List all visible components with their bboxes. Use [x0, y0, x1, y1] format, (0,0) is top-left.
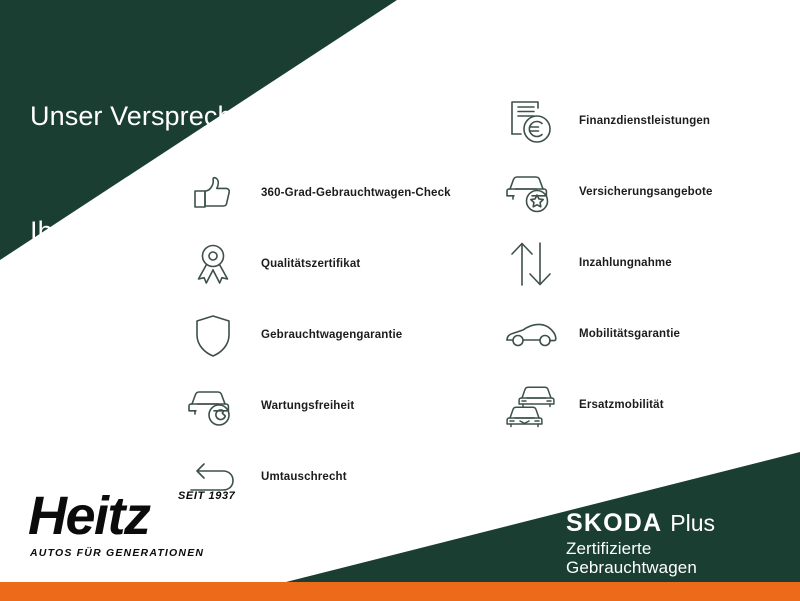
feature-item-insurance-offers: Versicherungsangebote [503, 159, 793, 227]
feature-list-left: 360-Grad-Gebrauchtwagen-Check Qualitätsz… [185, 160, 485, 515]
feature-label: Ersatzmobilität [579, 399, 664, 413]
feature-item-warranty: Gebrauchtwagengarantie [185, 302, 485, 370]
feature-label: Gebrauchtwagengarantie [261, 329, 402, 343]
feature-label: Qualitätszertifikat [261, 258, 360, 272]
two-cars-icon [503, 378, 559, 434]
feature-item-financial-services: Finanzdienstleistungen [503, 88, 793, 156]
feature-label: Mobilitätsgarantie [579, 328, 680, 342]
award-rosette-icon [185, 237, 241, 293]
up-down-arrows-icon [503, 236, 559, 292]
feature-item-360-check: 360-Grad-Gebrauchtwagen-Check [185, 160, 485, 228]
feature-item-mobility-guarantee: Mobilitätsgarantie [503, 301, 793, 369]
feature-item-maintenance-free: Wartungsfreiheit [185, 373, 485, 441]
brand-logo: SKODA Plus Zertifizierte Gebrauchtwagen [566, 511, 786, 577]
document-euro-icon [503, 94, 559, 150]
brand-logo-subtitle: Zertifizierte Gebrauchtwagen [566, 540, 786, 577]
feature-item-trade-in: Inzahlungnahme [503, 230, 793, 298]
feature-label: Inzahlungnahme [579, 257, 672, 271]
feature-label: Umtauschrecht [261, 471, 347, 485]
thumbs-up-icon [185, 166, 241, 222]
dealer-logo-since: SEIT 1937 [178, 490, 235, 502]
brand-logo-wordmark: SKODA [566, 511, 662, 536]
feature-label: 360-Grad-Gebrauchtwagen-Check [261, 187, 451, 201]
car-side-icon [503, 307, 559, 363]
car-star-icon [503, 165, 559, 221]
feature-list-right: Finanzdienstleistungen Versicherungsange… [503, 88, 793, 443]
dealer-logo-tagline: AUTOS FÜR GENERATIONEN [30, 547, 204, 559]
feature-item-quality-certificate: Qualitätszertifikat [185, 231, 485, 299]
feature-label: Finanzdienstleistungen [579, 115, 710, 129]
headline-line-1: Unser Versprechen. [30, 97, 270, 135]
dealer-logo: Heitz SEIT 1937 AUTOS FÜR GENERATIONEN [28, 487, 243, 562]
shield-icon [185, 308, 241, 364]
brand-logo-suffix: Plus [670, 512, 715, 535]
promo-banner: Unser Versprechen. Ihr Plus. 360-Grad-Ge… [0, 0, 800, 601]
feature-label: Versicherungsangebote [579, 186, 713, 200]
feature-item-replacement-mobility: Ersatzmobilität [503, 372, 793, 440]
brand-logo-row: SKODA Plus [566, 511, 786, 536]
dealer-logo-name: Heitz [28, 489, 150, 543]
feature-label: Wartungsfreiheit [261, 400, 354, 414]
car-wrench-icon [185, 379, 241, 435]
